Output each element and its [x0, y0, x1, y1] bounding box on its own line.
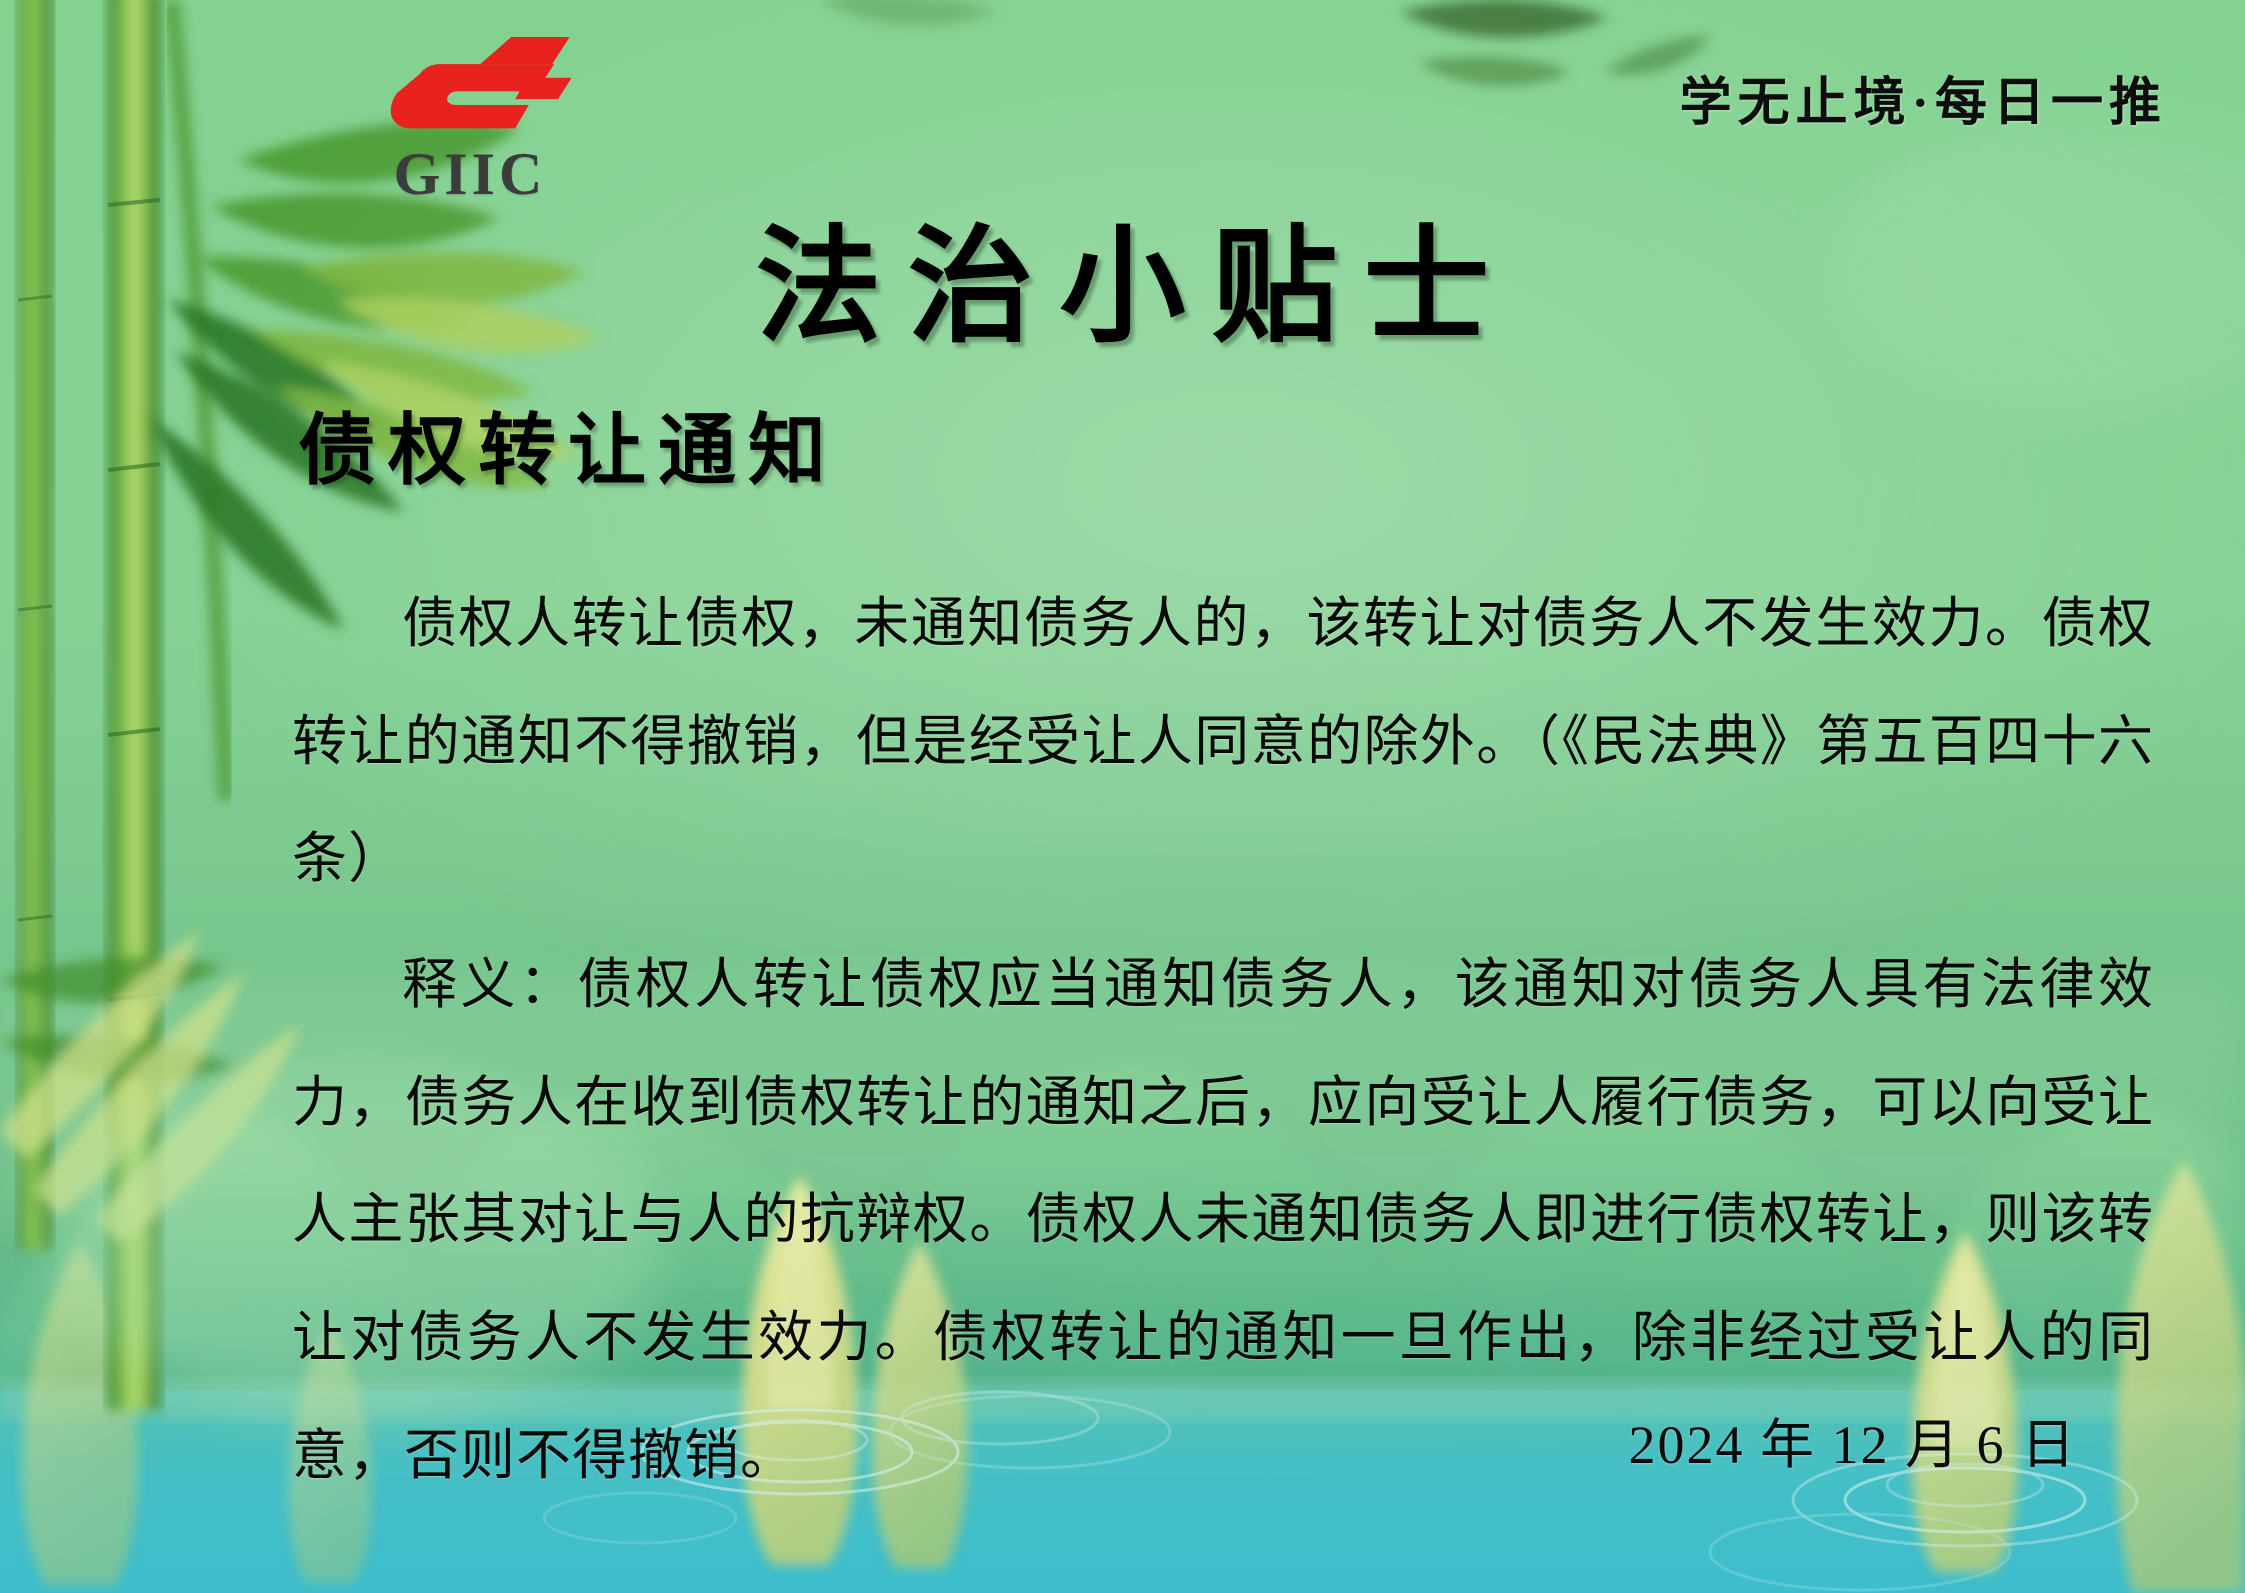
- poster-content: GIIC 学无止境·每日一推 法治小贴士 债权转让通知 债权人转让债权，未通知债…: [0, 0, 2245, 1593]
- giic-logo-mark-icon: [363, 35, 578, 140]
- page-subtitle: 债权转让通知: [298, 404, 838, 498]
- poster-canvas: GIIC 学无止境·每日一推 法治小贴士 债权转让通知 债权人转让债权，未通知债…: [0, 0, 2245, 1593]
- body-paragraph-1: 债权人转让债权，未通知债务人的，该转让对债务人不发生效力。债权转让的通知不得撤销…: [292, 565, 2154, 918]
- brand-logo: GIIC: [330, 35, 610, 204]
- publish-date: 2024 年 12 月 6 日: [1629, 1400, 2078, 1479]
- brand-logo-text: GIIC: [330, 144, 610, 204]
- body-text-block: 债权人转让债权，未通知债务人的，该转让对债务人不发生效力。债权转让的通知不得撤销…: [292, 565, 2154, 1515]
- page-title: 法治小贴士: [0, 218, 2245, 359]
- header-tagline: 学无止境·每日一推: [1680, 60, 2167, 135]
